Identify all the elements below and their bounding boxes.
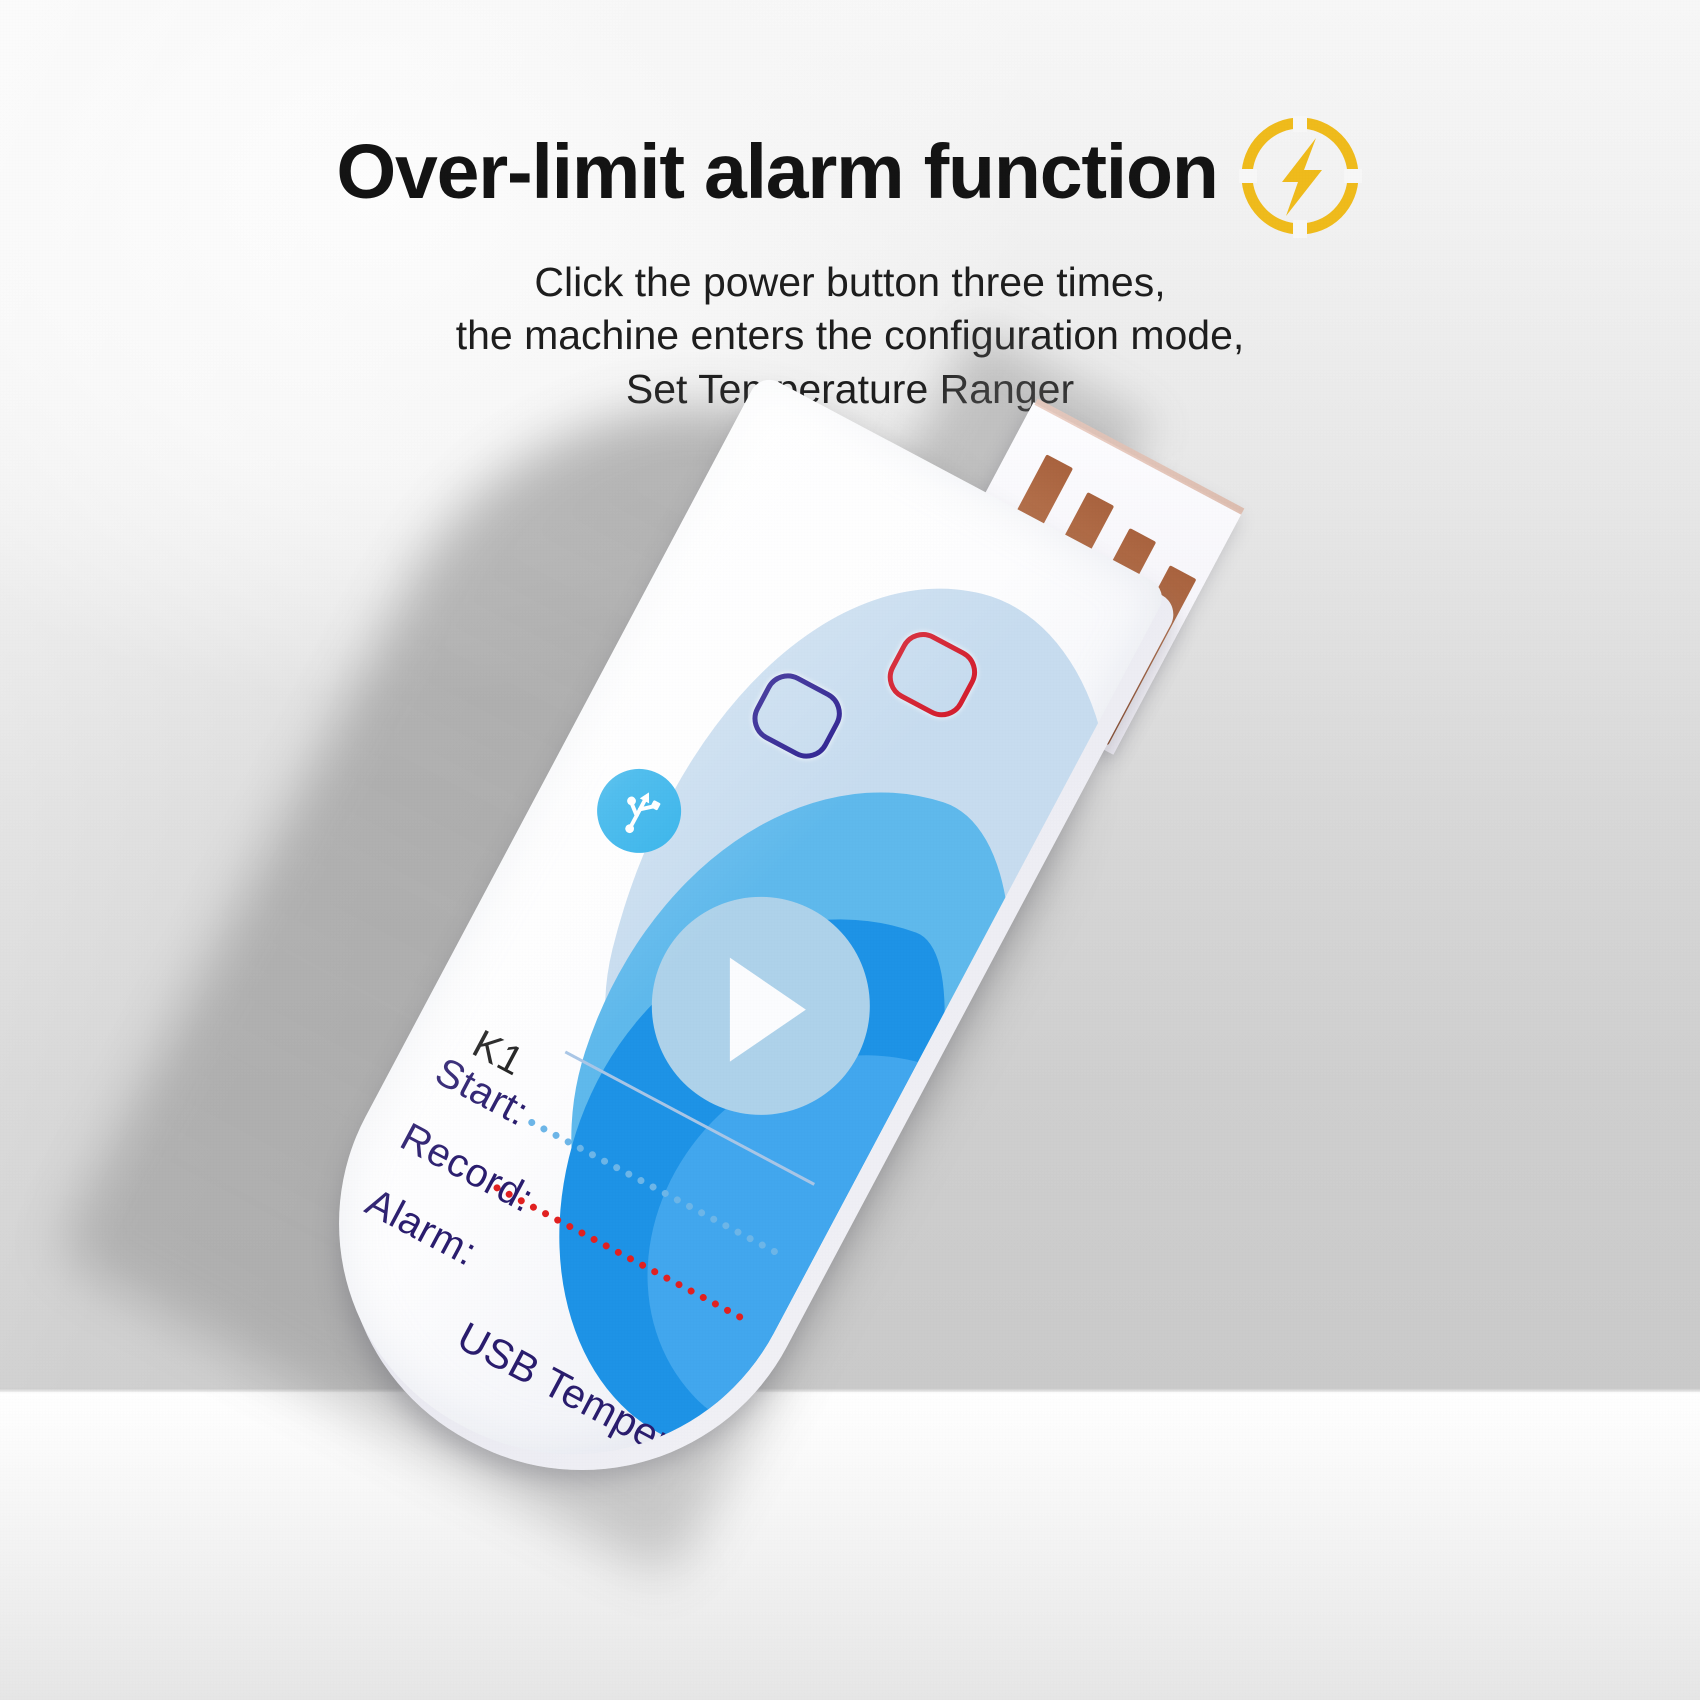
headline-row: Over-limit alarm function: [0, 108, 1700, 236]
subtitle-line-2: the machine enters the configuration mod…: [0, 309, 1700, 362]
subtitle-line-1: Click the power button three times,: [0, 256, 1700, 309]
headline-block: Over-limit alarm function: [0, 108, 1700, 416]
play-triangle-icon: [730, 958, 806, 1062]
product-image-stage: Over-limit alarm function: [0, 0, 1700, 1700]
subtitle-line-3: Set Temperature Ranger: [0, 363, 1700, 416]
background-table-edge: [0, 1388, 1700, 1396]
background-table: [0, 1392, 1700, 1700]
subtitle-block: Click the power button three times, the …: [0, 256, 1700, 416]
alarm-field-label: Alarm:: [358, 1180, 484, 1275]
lightning-bolt-in-circle-icon: [1236, 112, 1364, 240]
page-title: Over-limit alarm function: [336, 133, 1217, 212]
